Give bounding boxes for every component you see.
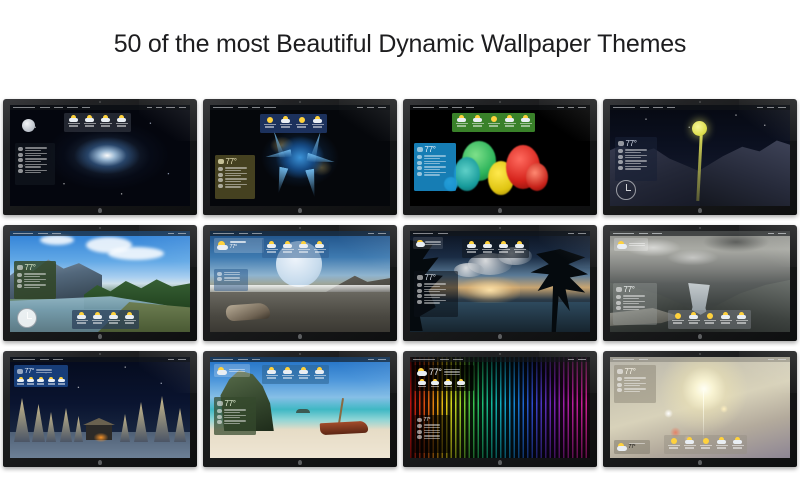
monitor-frame: 77°: [203, 225, 397, 341]
boat-mast: [338, 398, 344, 424]
menu-bar[interactable]: [210, 357, 390, 362]
weather-detail-panel[interactable]: 77°: [615, 137, 657, 181]
temperature-value: 77°: [230, 244, 246, 250]
forecast-day: [281, 241, 295, 256]
weather-detail-panel[interactable]: 77°: [414, 271, 458, 317]
monitor-frame: [3, 99, 197, 215]
weather-detail-panel[interactable]: 77°: [14, 261, 56, 299]
page-title: 50 of the most Beautiful Dynamic Wallpap…: [0, 30, 800, 59]
theme-tile-color-ink[interactable]: 77°: [400, 95, 600, 221]
forecast-day: [715, 437, 729, 452]
apple-logo-icon: [498, 460, 502, 465]
apple-logo-icon: [98, 208, 102, 213]
menu-bar[interactable]: [410, 357, 590, 362]
monitor-frame: 77°: [203, 99, 397, 215]
forecast-day: [731, 437, 745, 452]
forecast-day: [99, 115, 113, 130]
theme-tile-tropical-sunset[interactable]: 77°: [400, 221, 600, 347]
forecast-day: [295, 116, 309, 131]
distant-island: [296, 409, 310, 413]
forecast-day: [471, 115, 485, 130]
app-store-screenshot: 50 of the most Beautiful Dynamic Wallpap…: [0, 0, 800, 500]
temperature-value: 77°: [629, 445, 645, 451]
forecast-day: [687, 312, 701, 327]
apple-logo-icon: [98, 334, 102, 339]
weather-forecast-bar[interactable]: [452, 113, 535, 132]
forecast-day: [123, 312, 137, 327]
moon-icon: [22, 119, 35, 132]
forecast-day: [313, 367, 327, 382]
weather-forecast-bar[interactable]: [260, 114, 327, 133]
forecast-day: [683, 437, 697, 452]
camera-icon: [699, 353, 701, 355]
forecast-day: [430, 379, 441, 388]
weather-summary-card[interactable]: [614, 238, 648, 251]
forecast-day: [667, 437, 681, 452]
monitor-frame: 77°: [403, 225, 597, 341]
moon-icon: [692, 121, 707, 136]
theme-tile-fjord[interactable]: 77°: [600, 221, 800, 347]
fire-glow: [94, 433, 108, 442]
temperature-value: 77°: [626, 140, 637, 148]
weather-detail-panel[interactable]: 77°: [613, 283, 657, 325]
forecast-day: [456, 379, 467, 388]
theme-tile-blue-splash[interactable]: 77°: [200, 95, 400, 221]
menu-bar[interactable]: [10, 231, 190, 236]
camera-icon: [99, 353, 101, 355]
temperature-value: 77°: [25, 368, 35, 375]
forecast-day: [67, 115, 81, 130]
monitor-frame: 77° 77°: [403, 351, 597, 467]
weather-forecast-bar[interactable]: [462, 239, 529, 258]
theme-tile-beach-moonrise[interactable]: 77°: [200, 221, 400, 347]
monitor-screen: 77°: [410, 105, 590, 206]
temperature-value: 77°: [625, 368, 636, 376]
forecast-day: [699, 437, 713, 452]
weather-detail-panel[interactable]: 77°: [215, 155, 255, 199]
forecast-day: [417, 379, 428, 388]
apple-logo-icon: [698, 208, 702, 213]
clock-widget[interactable]: [17, 308, 37, 328]
monitor-screen: [10, 105, 190, 206]
forecast-day: [107, 312, 121, 327]
forecast-day: [735, 312, 749, 327]
forecast-day: [75, 312, 89, 327]
apple-logo-icon: [298, 334, 302, 339]
sun-glow: [460, 277, 520, 303]
theme-tile-spectrum[interactable]: 77° 77°: [400, 347, 600, 473]
menu-bar[interactable]: [10, 357, 190, 362]
forecast-day: [83, 115, 97, 130]
weather-forecast-bar[interactable]: [72, 310, 139, 329]
monitor-frame: 77°: [3, 225, 197, 341]
monitor-screen: 77°: [210, 105, 390, 206]
camera-icon: [499, 227, 501, 229]
monitor-screen: 77°: [10, 357, 190, 458]
forecast-day: [465, 241, 479, 256]
menu-bar[interactable]: [610, 231, 790, 236]
forecast-day: [703, 312, 717, 327]
forecast-day: [513, 241, 527, 256]
monitor-frame: 77°: [403, 99, 597, 215]
monitor-frame: 77°: [203, 351, 397, 467]
longtail-boat: [320, 421, 369, 435]
camera-icon: [299, 101, 301, 103]
theme-tile-moon-canyon[interactable]: 77°: [600, 95, 800, 221]
menu-bar[interactable]: [610, 357, 790, 362]
forecast-day: [455, 115, 469, 130]
apple-logo-icon: [698, 460, 702, 465]
weather-detail-panel[interactable]: [214, 269, 248, 291]
forecast-day: [503, 115, 517, 130]
weather-summary-card[interactable]: 77°: [614, 440, 650, 454]
theme-tile-mountain-river[interactable]: 77°: [0, 221, 200, 347]
forecast-day: [671, 312, 685, 327]
camera-icon: [99, 101, 101, 103]
apple-logo-icon: [98, 460, 102, 465]
weather-forecast-bar[interactable]: [17, 377, 66, 385]
weather-forecast-bar[interactable]: [64, 113, 131, 132]
forecast-day: [263, 116, 277, 131]
menu-bar[interactable]: [410, 105, 590, 110]
forecast-day: [313, 241, 327, 256]
weather-detail-panel[interactable]: 77°: [414, 365, 474, 391]
weather-forecast-bar[interactable]: [668, 310, 751, 329]
monitor-screen: 77°: [210, 357, 390, 458]
monitor-screen: 77°: [10, 231, 190, 332]
menu-bar[interactable]: [210, 231, 390, 236]
monitor-frame: 77° 77°: [603, 351, 797, 467]
forecast-day: [487, 115, 501, 130]
forecast-day: [297, 367, 311, 382]
forecast-day: [47, 377, 56, 385]
wallpaper-theme-gallery: 77°: [0, 95, 800, 475]
weather-forecast-bar[interactable]: [262, 365, 329, 384]
menu-bar[interactable]: [210, 105, 390, 110]
forecast-day: [57, 377, 66, 385]
monitor-screen: 77°: [610, 231, 790, 332]
forecast-day: [265, 241, 279, 256]
apple-logo-icon: [498, 334, 502, 339]
forecast-day: [281, 367, 295, 382]
theme-tile-sun-flare[interactable]: 77° 77°: [600, 347, 800, 473]
temperature-value: 77°: [425, 274, 436, 282]
menu-bar[interactable]: [10, 105, 190, 110]
monitor-screen: 77°: [610, 105, 790, 206]
forecast-day: [481, 241, 495, 256]
monitor-frame: 77°: [603, 99, 797, 215]
apple-logo-icon: [698, 334, 702, 339]
camera-icon: [699, 101, 701, 103]
forecast-day: [27, 377, 36, 385]
temperature-value: 77°: [25, 264, 36, 272]
camera-icon: [299, 227, 301, 229]
apple-logo-icon: [298, 208, 302, 213]
camera-icon: [499, 101, 501, 103]
weather-forecast-bar[interactable]: [262, 239, 329, 258]
temperature-value: 77°: [424, 418, 431, 423]
apple-logo-icon: [298, 460, 302, 465]
weather-detail-panel-secondary[interactable]: 77°: [414, 415, 450, 453]
monitor-screen: 77° 77°: [610, 357, 790, 458]
monitor-frame: 77°: [3, 351, 197, 467]
driftwood: [225, 302, 270, 321]
forecast-day: [265, 367, 279, 382]
temperature-value: 77°: [425, 146, 436, 154]
weather-detail-panel[interactable]: 77°: [414, 143, 456, 191]
monitor-screen: 77° 77°: [410, 357, 590, 458]
weather-detail-panel[interactable]: 77°: [14, 365, 68, 387]
forecast-day: [297, 241, 311, 256]
camera-icon: [499, 353, 501, 355]
weather-summary-card[interactable]: 77°: [214, 238, 264, 253]
forecast-day: [91, 312, 105, 327]
weather-detail-panel[interactable]: 77°: [214, 397, 256, 435]
monitor-screen: 77°: [410, 231, 590, 332]
forecast-day: [115, 115, 129, 130]
apple-logo-icon: [498, 208, 502, 213]
forecast-day: [37, 377, 46, 385]
theme-tile-thai-beach[interactable]: 77°: [200, 347, 400, 473]
monitor-screen: 77°: [210, 231, 390, 332]
weather-forecast-bar[interactable]: [417, 379, 472, 388]
weather-detail-panel[interactable]: [15, 143, 55, 185]
camera-icon: [99, 227, 101, 229]
weather-forecast-bar[interactable]: [664, 435, 747, 454]
clock-widget[interactable]: [616, 180, 636, 200]
cliff-right: [700, 128, 790, 206]
menu-bar[interactable]: [610, 105, 790, 110]
temperature-value: 77°: [225, 400, 236, 408]
theme-tile-galaxy[interactable]: [0, 95, 200, 221]
forecast-day: [519, 115, 533, 130]
forecast-day: [279, 116, 293, 131]
weather-detail-panel[interactable]: 77°: [614, 365, 656, 403]
theme-tile-winter-cabin[interactable]: 77°: [0, 347, 200, 473]
forecast-day: [311, 116, 325, 131]
camera-icon: [299, 353, 301, 355]
temperature-value: 77°: [429, 368, 442, 377]
temperature-value: 77°: [226, 158, 237, 166]
menu-bar[interactable]: [410, 231, 590, 236]
forecast-day: [17, 377, 26, 385]
weather-summary-card[interactable]: [214, 364, 250, 377]
camera-icon: [699, 227, 701, 229]
monitor-frame: 77°: [603, 225, 797, 341]
weather-summary-card[interactable]: [413, 237, 443, 249]
forecast-day: [719, 312, 733, 327]
forecast-day: [497, 241, 511, 256]
forecast-day: [443, 379, 454, 388]
temperature-value: 77°: [624, 286, 635, 294]
